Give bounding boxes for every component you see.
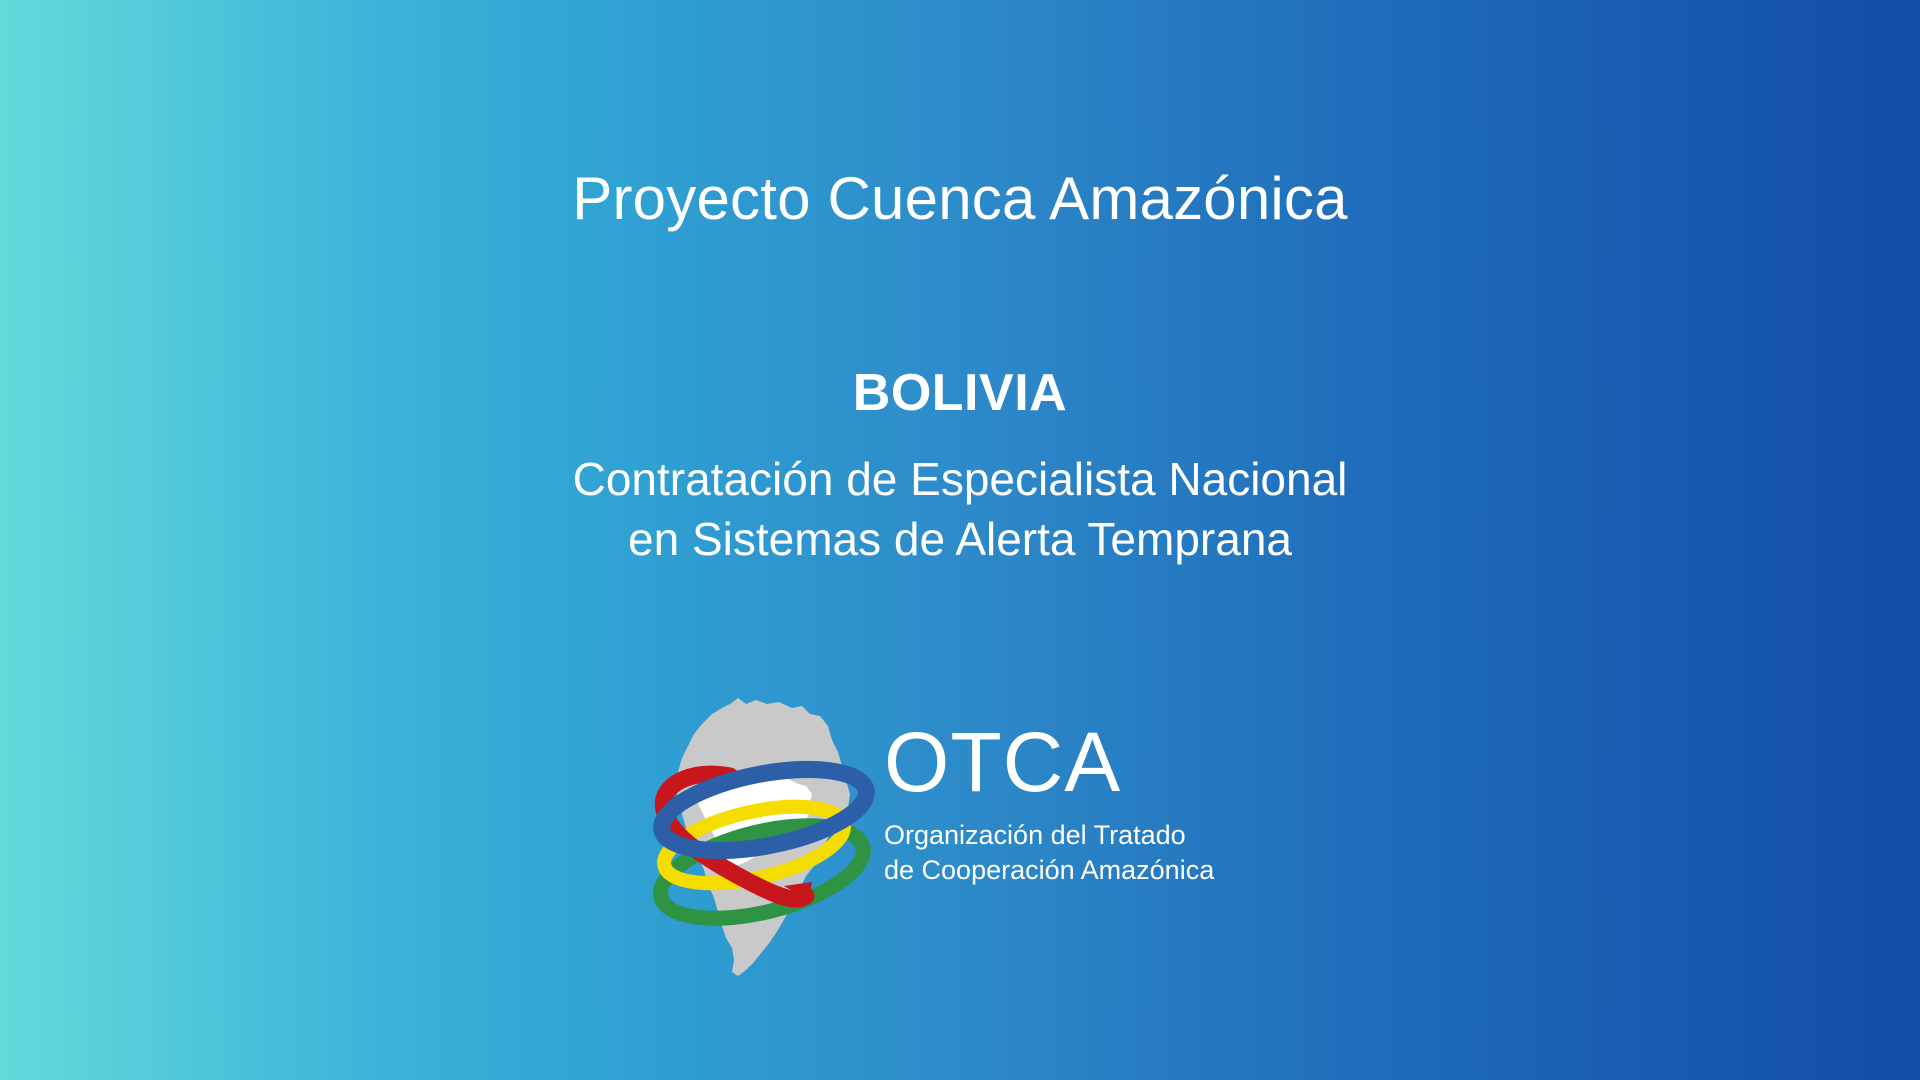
otca-wordmark: OTCA (884, 720, 1284, 804)
subtitle-line-1: Contratación de Especialista Nacional (0, 450, 1920, 510)
presentation-slide: Proyecto Cuenca Amazónica BOLIVIA Contra… (0, 0, 1920, 1080)
otca-logo: OTCA Organización del Tratado de Coopera… (634, 690, 1294, 980)
page-title: Proyecto Cuenca Amazónica (0, 166, 1920, 232)
otca-wordmark-block: OTCA Organización del Tratado de Coopera… (884, 720, 1284, 950)
subtitle-line-2: en Sistemas de Alerta Temprana (0, 510, 1920, 570)
otca-tagline-line-1: Organización del Tratado (884, 818, 1284, 853)
subtitle-block: Contratación de Especialista Nacional en… (0, 450, 1920, 570)
country-heading: BOLIVIA (0, 365, 1920, 422)
otca-tagline-line-2: de Cooperación Amazónica (884, 853, 1284, 888)
otca-tagline: Organización del Tratado de Cooperación … (884, 818, 1284, 887)
otca-emblem-icon (634, 690, 884, 980)
